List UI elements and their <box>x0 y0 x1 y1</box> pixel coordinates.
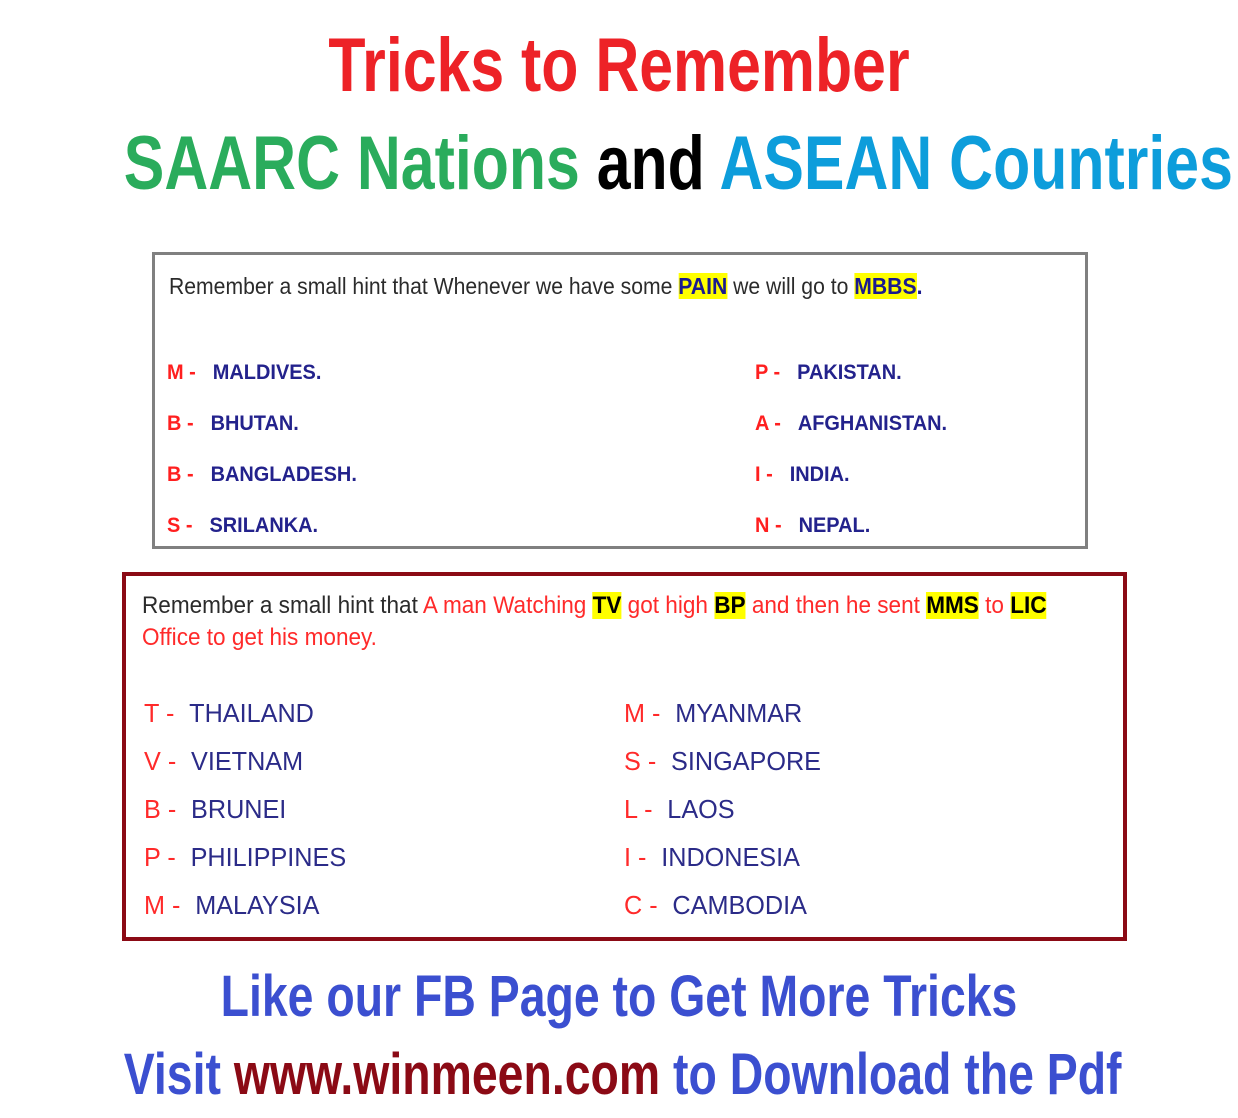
saarc-dash: - <box>187 412 194 435</box>
list-item: T - THAILAND <box>144 698 346 746</box>
asean-key: T <box>144 698 159 728</box>
list-item: M - MALAYSIA <box>144 890 346 938</box>
footer-visit-text: Visit <box>124 1042 234 1107</box>
asean-name: INDONESIA <box>661 842 800 872</box>
asean-key: I <box>624 842 631 872</box>
asean-name: LAOS <box>667 794 734 824</box>
saarc-box: Remember a small hint that Whenever we h… <box>152 252 1088 549</box>
asean-name: BRUNEI <box>191 794 286 824</box>
footer-block: Like our FB Page to Get More Tricks Visi… <box>0 958 1238 1114</box>
asean-left-column: T - THAILAND V - VIETNAM B - BRUNEI P - … <box>144 698 352 938</box>
saarc-key: B <box>167 412 181 435</box>
asean-key: S <box>624 746 641 776</box>
asean-dash: - <box>168 746 176 776</box>
saarc-hint-highlight-pain: PAIN <box>678 273 727 299</box>
list-item: P - PAKISTAN. <box>755 361 947 412</box>
asean-dash: - <box>638 842 646 872</box>
list-item: V - VIETNAM <box>144 746 346 794</box>
list-item: A - AFGHANISTAN. <box>755 412 947 463</box>
title-saarc-text: SAARC Nations <box>124 121 580 206</box>
asean-hint-red3: and then he sent <box>746 592 927 619</box>
footer-download-text: to Download the Pdf <box>660 1042 1121 1107</box>
saarc-left-column: M - MALDIVES. B - BHUTAN. B - BANGLADESH… <box>167 361 367 565</box>
saarc-key: S <box>167 514 180 537</box>
asean-key: M <box>144 890 165 920</box>
list-item: C - CAMBODIA <box>624 890 821 938</box>
asean-box: Remember a small hint that A man Watchin… <box>122 572 1127 941</box>
list-item: M - MALDIVES. <box>167 361 357 412</box>
saarc-hint-text: Remember a small hint that Whenever we h… <box>169 272 997 300</box>
asean-hint-highlight-mms: MMS <box>926 592 979 619</box>
asean-key: L <box>624 794 637 824</box>
saarc-hint-mid: we will go to <box>727 273 854 299</box>
asean-dash: - <box>648 746 656 776</box>
saarc-name: MALDIVES. <box>213 361 322 384</box>
saarc-key: A <box>755 412 769 435</box>
list-item: I - INDIA. <box>755 463 947 514</box>
asean-key: C <box>624 890 642 920</box>
asean-hint-red5: Office to get his money. <box>142 624 377 651</box>
footer-website-url[interactable]: www.winmeen.com <box>234 1042 660 1107</box>
asean-name: MALAYSIA <box>195 890 319 920</box>
asean-name: MYANMAR <box>675 698 802 728</box>
list-item: S - SRILANKA. <box>167 514 357 565</box>
saarc-name: BHUTAN. <box>211 412 299 435</box>
asean-key: B <box>144 794 161 824</box>
asean-hint-highlight-lic: LIC <box>1010 592 1046 619</box>
saarc-dash: - <box>766 463 773 486</box>
saarc-key: M <box>167 361 184 384</box>
list-item: B - BRUNEI <box>144 794 346 842</box>
asean-hint-red2: got high <box>621 592 714 619</box>
list-item: L - LAOS <box>624 794 821 842</box>
asean-dash: - <box>168 794 176 824</box>
asean-hint-highlight-bp: BP <box>714 592 745 619</box>
asean-dash: - <box>166 698 174 728</box>
asean-hint-red4: to <box>979 592 1010 619</box>
saarc-hint-highlight-mbbs: MBBS <box>854 273 916 299</box>
asean-hint-pre: Remember a small hint that <box>142 592 423 619</box>
title-and-text: and <box>580 121 720 206</box>
asean-hint-highlight-tv: TV <box>593 592 622 619</box>
asean-dash: - <box>172 890 180 920</box>
asean-key: V <box>144 746 161 776</box>
saarc-dash: - <box>775 514 782 537</box>
title-asean-text: ASEAN Countries <box>719 121 1232 206</box>
saarc-name: SRILANKA. <box>209 514 318 537</box>
saarc-key: P <box>755 361 768 384</box>
saarc-name: BANGLADESH. <box>211 463 357 486</box>
asean-name: SINGAPORE <box>671 746 821 776</box>
list-item: M - MYANMAR <box>624 698 821 746</box>
saarc-dash: - <box>774 412 781 435</box>
saarc-dash: - <box>189 361 196 384</box>
list-item: S - SINGAPORE <box>624 746 821 794</box>
list-item: B - BANGLADESH. <box>167 463 357 514</box>
saarc-right-column: P - PAKISTAN. A - AFGHANISTAN. I - INDIA… <box>755 361 957 565</box>
asean-name: CAMBODIA <box>672 890 807 920</box>
list-item: B - BHUTAN. <box>167 412 357 463</box>
saarc-hint-post: . <box>917 273 923 299</box>
asean-name: PHILIPPINES <box>191 842 347 872</box>
saarc-name: AFGHANISTAN. <box>798 412 947 435</box>
saarc-name: INDIA. <box>790 463 850 486</box>
page-title-block: Tricks to Remember SAARC Nations and ASE… <box>0 0 1238 210</box>
saarc-dash: - <box>774 361 781 384</box>
list-item: I - INDONESIA <box>624 842 821 890</box>
page-title-line2: SAARC Nations and ASEAN Countries <box>124 118 1114 210</box>
asean-name: THAILAND <box>189 698 314 728</box>
saarc-name: PAKISTAN. <box>797 361 902 384</box>
asean-hint-red1: A man Watching <box>423 592 593 619</box>
asean-dash: - <box>167 842 175 872</box>
list-item: N - NEPAL. <box>755 514 947 565</box>
saarc-name: NEPAL. <box>799 514 871 537</box>
asean-dash: - <box>649 890 657 920</box>
asean-key: P <box>144 842 160 872</box>
saarc-hint-pre: Remember a small hint that Whenever we h… <box>169 273 678 299</box>
asean-dash: - <box>644 794 652 824</box>
saarc-key: B <box>167 463 181 486</box>
saarc-dash: - <box>187 463 194 486</box>
saarc-key: I <box>755 463 761 486</box>
asean-dash: - <box>652 698 660 728</box>
footer-line-fb-page: Like our FB Page to Get More Tricks <box>124 958 1114 1036</box>
saarc-key: N <box>755 514 769 537</box>
footer-line-website: Visit www.winmeen.com to Download the Pd… <box>124 1036 1114 1114</box>
asean-key: M <box>624 698 645 728</box>
page-title-line1: Tricks to Remember <box>124 0 1114 118</box>
asean-hint-text: Remember a small hint that A man Watchin… <box>142 590 1063 654</box>
list-item: P - PHILIPPINES <box>144 842 346 890</box>
asean-right-column: M - MYANMAR S - SINGAPORE L - LAOS I - I… <box>624 698 827 938</box>
saarc-dash: - <box>186 514 193 537</box>
asean-name: VIETNAM <box>191 746 303 776</box>
